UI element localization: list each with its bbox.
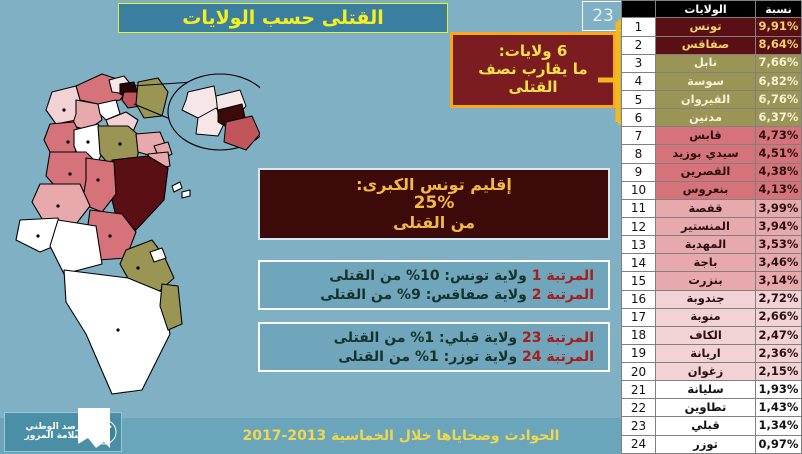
cell-governorate: قفصة [656, 199, 756, 217]
cell-percent: 1,34% [756, 417, 802, 435]
cell-governorate: سيدي بوزيد [656, 145, 756, 163]
column-header-percent: نسبة [756, 1, 802, 18]
cell-governorate: منوبة [656, 308, 756, 326]
cell-rank: 20 [622, 363, 656, 381]
table-row: 3,14%بنزرت15 [622, 272, 802, 290]
table-row: 3,46%باجة14 [622, 254, 802, 272]
footer-caption: الحوادث وضحاياها خلال الخماسية 2013-2017 [243, 428, 560, 444]
table-row: 2,36%اريانة19 [622, 344, 802, 362]
table-row: 0,97%توزر24 [622, 435, 802, 453]
cell-rank: 19 [622, 344, 656, 362]
cell-rank: 7 [622, 127, 656, 145]
table-row: 4,51%سيدي بوزيد8 [622, 145, 802, 163]
page-fold-decoration [74, 408, 110, 448]
tunisia-choropleth-map [2, 34, 260, 406]
cell-governorate: توزر [656, 435, 756, 453]
callout-six-line1: 6 ولايات: [499, 43, 568, 61]
cell-rank: 14 [622, 254, 656, 272]
column-header-governorate: الولايات [656, 1, 756, 18]
cell-rank: 21 [622, 381, 656, 399]
cell-rank: 5 [622, 90, 656, 108]
cell-percent: 6,37% [756, 109, 802, 127]
callout-six-governorates: 6 ولايات: ما يقارب نصف القتلى [450, 32, 616, 108]
callout-six-line2: ما يقارب نصف [478, 61, 587, 79]
cell-governorate: قبلي [656, 417, 756, 435]
cell-percent: 2,72% [756, 290, 802, 308]
cell-governorate: الكاف [656, 326, 756, 344]
islet-kerkennah-b [182, 190, 190, 198]
page-title: القتلى حسب الولايات [118, 3, 448, 33]
table-row: 1,93%سليانة21 [622, 381, 802, 399]
cell-percent: 1,93% [756, 381, 802, 399]
cell-rank: 16 [622, 290, 656, 308]
region-kebili [50, 220, 102, 274]
cell-percent: 4,51% [756, 145, 802, 163]
cell-governorate: مدنين [656, 109, 756, 127]
callout-greater-tunis: إقليم تونس الكبرى: 25% من القتلى [258, 168, 610, 240]
cell-rank: 17 [622, 308, 656, 326]
cell-percent: 7,66% [756, 54, 802, 72]
rank-row-24: المرتبة 24 ولاية توزر: 1% من القتلى [268, 349, 594, 365]
cell-percent: 6,82% [756, 72, 802, 90]
cell-percent: 0,97% [756, 435, 802, 453]
cell-governorate: القصرين [656, 163, 756, 181]
column-header-rank [622, 1, 656, 18]
rank-text-24: ولاية توزر: 1% من القتلى [338, 349, 517, 365]
cell-percent: 6,76% [756, 90, 802, 108]
cell-governorate: تونس [656, 18, 756, 36]
table-row: 4,13%بنعروس10 [622, 181, 802, 199]
region-tataouine [64, 270, 170, 394]
cell-percent: 4,38% [756, 163, 802, 181]
cell-rank: 18 [622, 326, 656, 344]
table-row: 9,91%تونس1 [622, 18, 802, 36]
table-row: 3,53%المهدية13 [622, 236, 802, 254]
cell-governorate: بنزرت [656, 272, 756, 290]
rank-label-2: المرتبة 2 [532, 287, 594, 303]
cell-governorate: باجة [656, 254, 756, 272]
cell-rank: 9 [622, 163, 656, 181]
cell-percent: 3,53% [756, 236, 802, 254]
rank-label-1: المرتبة 1 [532, 268, 594, 284]
table-row: 8,64%صفاقس2 [622, 36, 802, 54]
rank-text-23: ولاية قبلي: 1% من القتلى [334, 330, 518, 346]
table-body: 9,91%تونس18,64%صفاقس27,66%نابل36,82%سوسة… [622, 18, 802, 454]
table-row: 2,66%منوبة17 [622, 308, 802, 326]
cell-rank: 11 [622, 199, 656, 217]
cell-rank: 4 [622, 72, 656, 90]
table-row: 1,43%تطاوين22 [622, 399, 802, 417]
greater-tunis-percent: 25% [414, 194, 455, 214]
table: نسبة الولايات 9,91%تونس18,64%صفاقس27,66%… [621, 0, 802, 454]
page-title-text: القتلى حسب الولايات [182, 7, 384, 29]
greater-tunis-line1: إقليم تونس الكبرى: [356, 176, 512, 194]
rank-box-bottom: المرتبة 23 ولاية قبلي: 1% من القتلى المر… [258, 322, 610, 372]
table-row: 2,47%الكاف18 [622, 326, 802, 344]
cell-governorate: قابس [656, 127, 756, 145]
table-row: 6,82%سوسة4 [622, 72, 802, 90]
region-gafsa [32, 184, 90, 224]
cell-rank: 12 [622, 217, 656, 235]
rank-text-1: ولاية تونس: 10% من القتلى [329, 268, 527, 284]
rank-row-2: المرتبة 2 ولاية صفاقس: 9% من القتلى [268, 287, 594, 303]
cell-governorate: تطاوين [656, 399, 756, 417]
cell-governorate: اريانة [656, 344, 756, 362]
cell-rank: 1 [622, 18, 656, 36]
cell-percent: 2,66% [756, 308, 802, 326]
cell-governorate: زغوان [656, 363, 756, 381]
cell-percent: 8,64% [756, 36, 802, 54]
cell-percent: 1,43% [756, 399, 802, 417]
table-row: 4,73%قابس7 [622, 127, 802, 145]
cell-rank: 13 [622, 236, 656, 254]
cell-percent: 4,73% [756, 127, 802, 145]
cell-percent: 2,36% [756, 344, 802, 362]
table-row: 6,76%القيروان5 [622, 90, 802, 108]
cell-governorate: جندوبة [656, 290, 756, 308]
cell-percent: 2,47% [756, 326, 802, 344]
table-row: 7,66%نابل3 [622, 54, 802, 72]
table-row: 6,37%مدنين6 [622, 109, 802, 127]
table-row: 3,99%قفصة11 [622, 199, 802, 217]
cell-rank: 15 [622, 272, 656, 290]
cell-rank: 2 [622, 36, 656, 54]
cell-percent: 9,91% [756, 18, 802, 36]
greater-tunis-line3: من القتلى [393, 214, 475, 232]
table-row: 2,72%جندوبة16 [622, 290, 802, 308]
cell-governorate: سوسة [656, 72, 756, 90]
cell-governorate: القيروان [656, 90, 756, 108]
cell-rank: 24 [622, 435, 656, 453]
cell-rank: 23 [622, 417, 656, 435]
cell-rank: 3 [622, 54, 656, 72]
table-row: 1,34%قبلي23 [622, 417, 802, 435]
governorate-fatality-table: نسبة الولايات 9,91%تونس18,64%صفاقس27,66%… [622, 0, 802, 454]
table-row: 3,94%المنستير12 [622, 217, 802, 235]
cell-rank: 22 [622, 399, 656, 417]
islet-kerkennah-a [172, 182, 182, 192]
table-header-row: نسبة الولايات [622, 1, 802, 18]
cell-governorate: صفاقس [656, 36, 756, 54]
cell-rank: 10 [622, 181, 656, 199]
cell-governorate: المنستير [656, 217, 756, 235]
cell-rank: 8 [622, 145, 656, 163]
cell-percent: 3,14% [756, 272, 802, 290]
rank-label-23: المرتبة 23 [522, 330, 594, 346]
cell-percent: 4,13% [756, 181, 802, 199]
table-row: 4,38%القصرين9 [622, 163, 802, 181]
cell-governorate: نابل [656, 54, 756, 72]
rank-label-24: المرتبة 24 [522, 349, 594, 365]
table-row: 2,15%زغوان20 [622, 363, 802, 381]
rank-row-1: المرتبة 1 ولاية تونس: 10% من القتلى [268, 268, 594, 284]
cell-percent: 3,94% [756, 217, 802, 235]
cell-governorate: المهدية [656, 236, 756, 254]
cell-percent: 3,99% [756, 199, 802, 217]
cell-percent: 3,46% [756, 254, 802, 272]
cell-percent: 2,15% [756, 363, 802, 381]
cell-governorate: بنعروس [656, 181, 756, 199]
callout-six-line3: القتلى [509, 79, 558, 97]
cell-rank: 6 [622, 109, 656, 127]
rank-row-23: المرتبة 23 ولاية قبلي: 1% من القتلى [268, 330, 594, 346]
cell-governorate: سليانة [656, 381, 756, 399]
slide-canvas: القتلى حسب الولايات 23 [0, 0, 802, 454]
rank-text-2: ولاية صفاقس: 9% من القتلى [320, 287, 527, 303]
rank-box-top: المرتبة 1 ولاية تونس: 10% من القتلى المر… [258, 260, 610, 310]
